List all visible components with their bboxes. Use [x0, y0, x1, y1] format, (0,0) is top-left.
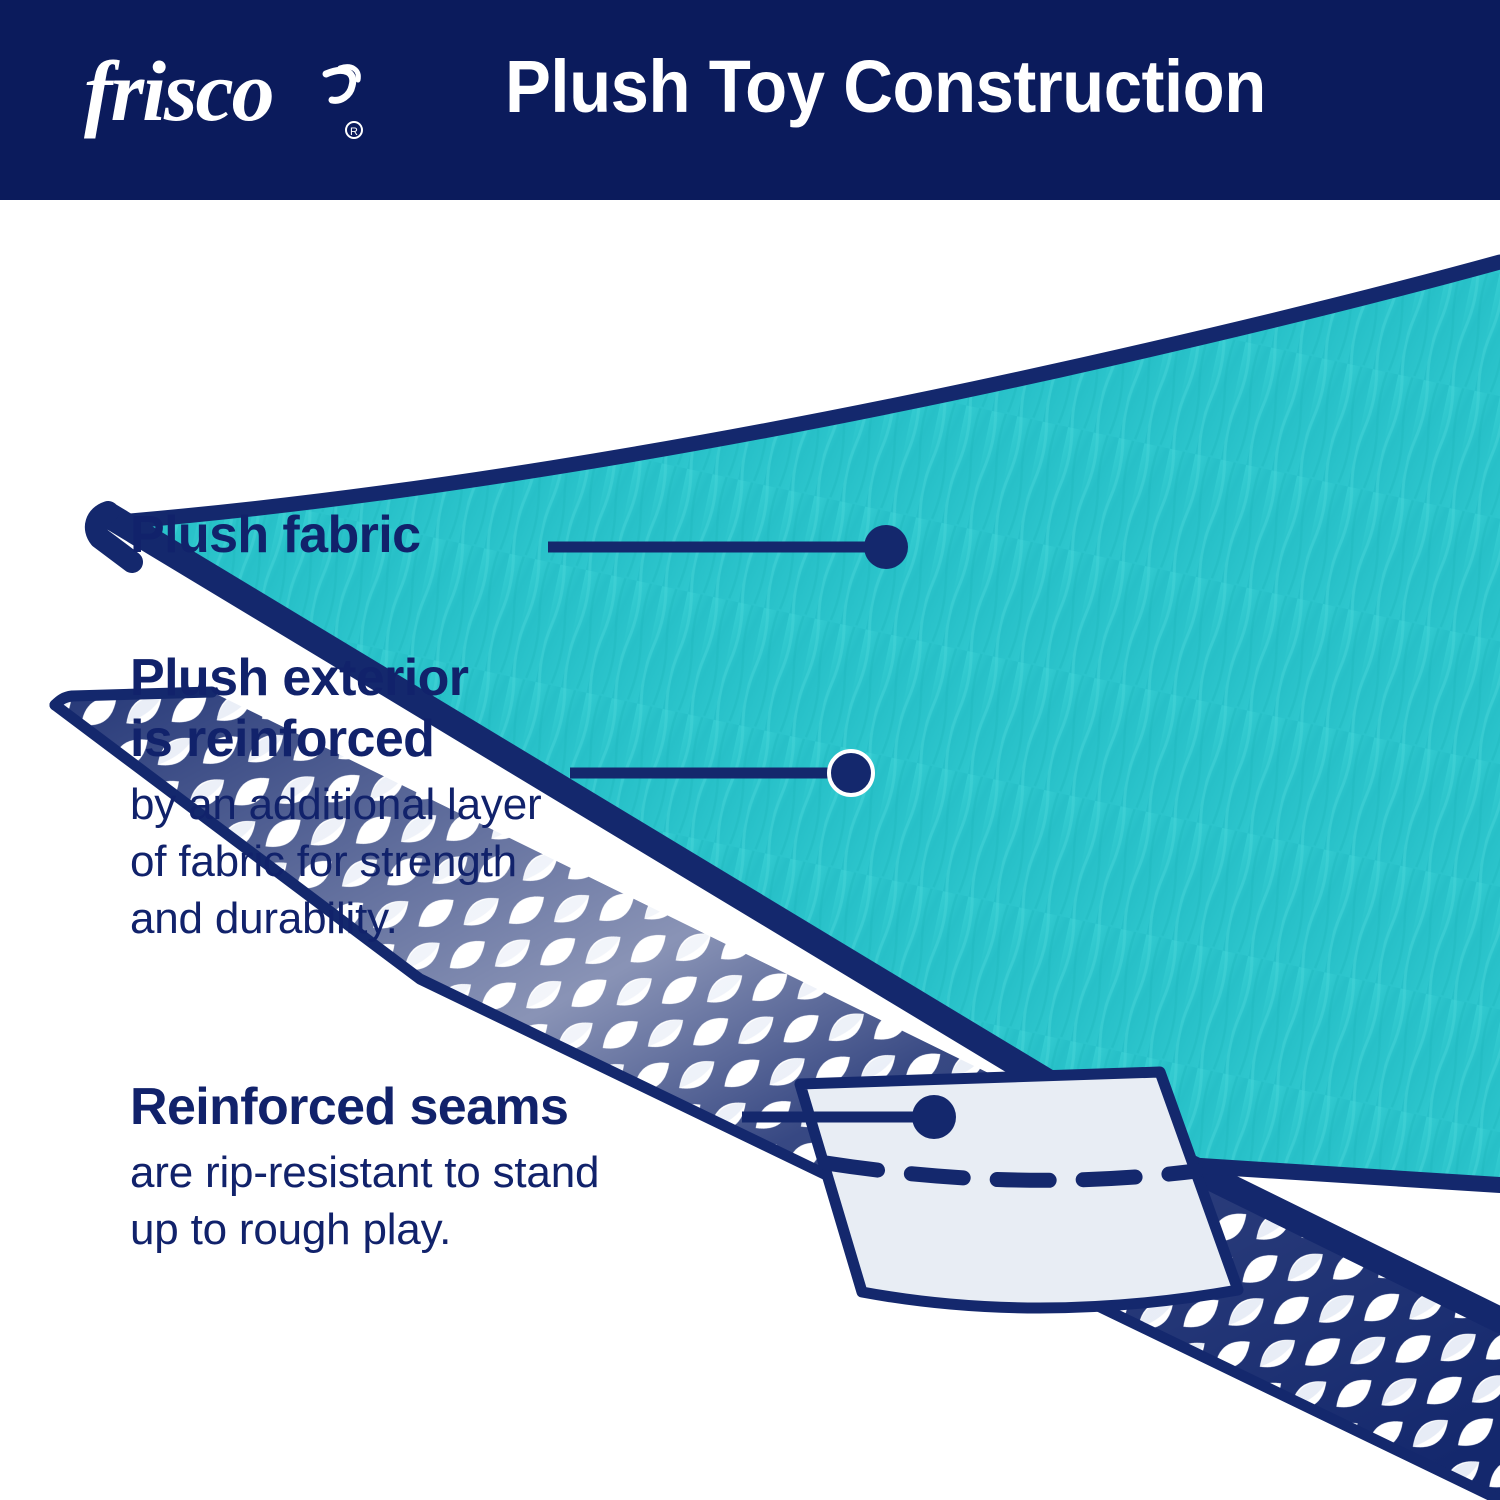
registered-trademark-letter: R: [350, 126, 358, 138]
callout-plush-fabric: Plush fabric: [130, 505, 420, 566]
logo-swoosh-icon: [326, 70, 353, 100]
callout-heading: Plush fabric: [130, 505, 420, 566]
callout-body: by an additional layer of fabric for str…: [130, 776, 541, 948]
header-bar: frisco R Plush Toy Construction: [0, 0, 1500, 200]
callout-reinforced-seams: Reinforced seams are rip-resistant to st…: [130, 1077, 599, 1258]
callout-heading: Reinforced seams: [130, 1077, 599, 1138]
logo-wordmark: frisco: [84, 48, 273, 139]
seam-flap-body: [800, 1072, 1238, 1308]
leader-dot-plush-exterior: [829, 751, 873, 795]
callout-plush-exterior: Plush exterior is reinforced by an addit…: [130, 648, 541, 947]
seam-flap: [800, 1072, 1238, 1308]
page-title: Plush Toy Construction: [505, 44, 1266, 129]
leader-dot-plush-fabric: [864, 525, 908, 569]
callout-heading: Plush exterior is reinforced: [130, 648, 541, 770]
frisco-logo: frisco R: [84, 48, 384, 148]
infographic-page: frisco R Plush Toy Construction: [0, 0, 1500, 1500]
callout-body: are rip-resistant to stand up to rough p…: [130, 1144, 599, 1258]
leader-dot-reinforced-seams: [912, 1095, 956, 1139]
